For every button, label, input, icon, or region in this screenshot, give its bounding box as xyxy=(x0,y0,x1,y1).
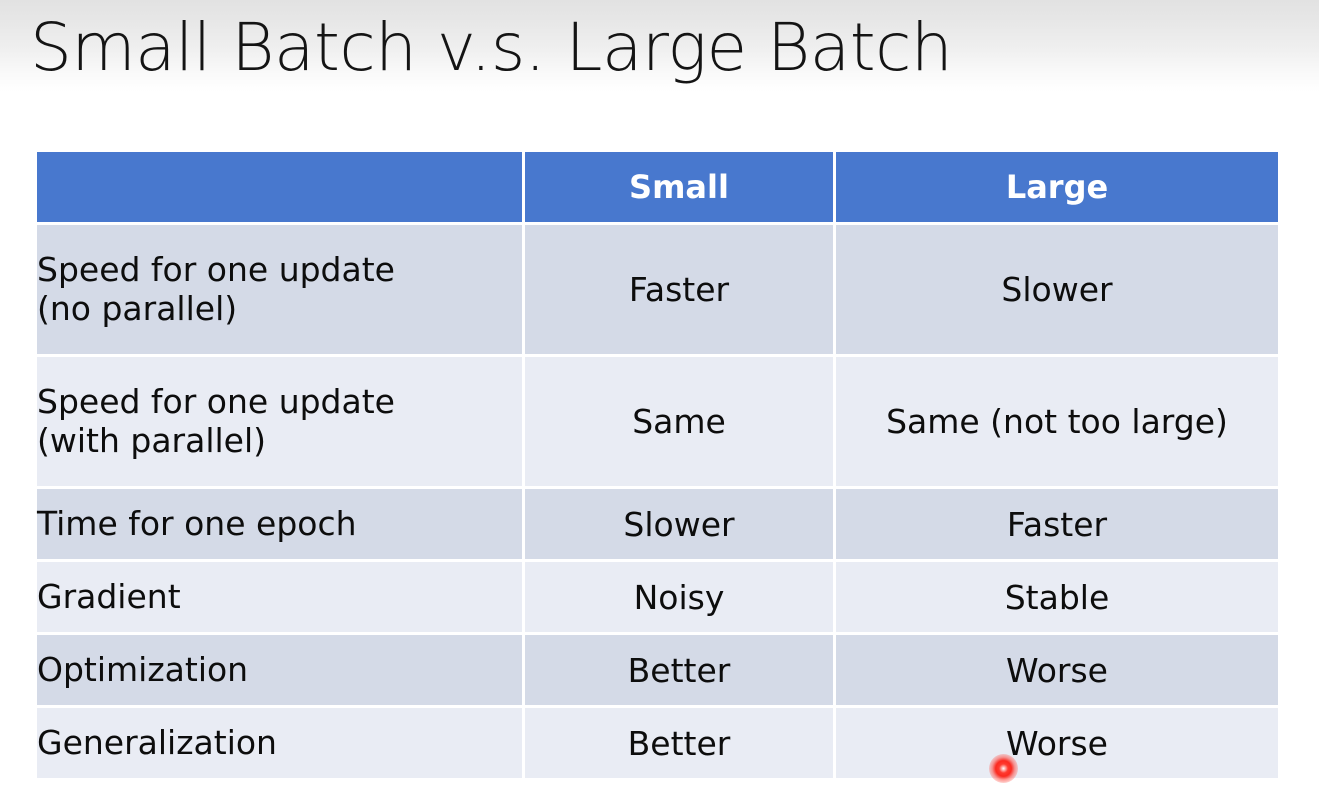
table-row: Optimization Better Worse xyxy=(37,635,1278,708)
cell-large-time-one-epoch: Faster xyxy=(836,489,1278,562)
cell-large-optimization: Worse xyxy=(836,635,1278,708)
table-header: Small Large xyxy=(37,152,1278,225)
row-label-generalization: Generalization xyxy=(37,708,525,778)
row-label-line-2: (with parallel) xyxy=(37,421,266,460)
row-label-line-1: Speed for one update xyxy=(37,382,395,421)
cell-small-speed-with-parallel: Same xyxy=(525,357,836,489)
batch-comparison-table: Small Large Speed for one update (no par… xyxy=(37,152,1278,778)
column-header-blank xyxy=(37,152,525,225)
column-header-small: Small xyxy=(525,152,836,225)
cell-large-gradient: Stable xyxy=(836,562,1278,635)
cell-small-gradient: Noisy xyxy=(525,562,836,635)
row-label-line-2: (no parallel) xyxy=(37,289,237,328)
cell-small-optimization: Better xyxy=(525,635,836,708)
row-label-speed-with-parallel: Speed for one update (with parallel) xyxy=(37,357,525,489)
cell-small-generalization: Better xyxy=(525,708,836,778)
row-label-optimization: Optimization xyxy=(37,635,525,708)
cell-large-generalization: Worse xyxy=(836,708,1278,778)
cell-large-speed-with-parallel: Same (not too large) xyxy=(836,357,1278,489)
table-row: Speed for one update (with parallel) Sam… xyxy=(37,357,1278,489)
column-header-large: Large xyxy=(836,152,1278,225)
table-row: Generalization Better Worse xyxy=(37,708,1278,778)
page-title: Small Batch v.s. Large Batch xyxy=(30,2,1130,94)
table-body: Speed for one update (no parallel) Faste… xyxy=(37,225,1278,778)
cell-small-speed-no-parallel: Faster xyxy=(525,225,836,357)
row-label-time-one-epoch: Time for one epoch xyxy=(37,489,525,562)
row-label-speed-no-parallel: Speed for one update (no parallel) xyxy=(37,225,525,357)
table-row: Speed for one update (no parallel) Faste… xyxy=(37,225,1278,357)
slide-canvas: Small Batch v.s. Large Batch Small Large… xyxy=(0,0,1319,789)
row-label-line-1: Speed for one update xyxy=(37,250,395,289)
cell-large-speed-no-parallel: Slower xyxy=(836,225,1278,357)
table-row: Time for one epoch Slower Faster xyxy=(37,489,1278,562)
table-header-row: Small Large xyxy=(37,152,1278,225)
cell-small-time-one-epoch: Slower xyxy=(525,489,836,562)
table-row: Gradient Noisy Stable xyxy=(37,562,1278,635)
row-label-gradient: Gradient xyxy=(37,562,525,635)
